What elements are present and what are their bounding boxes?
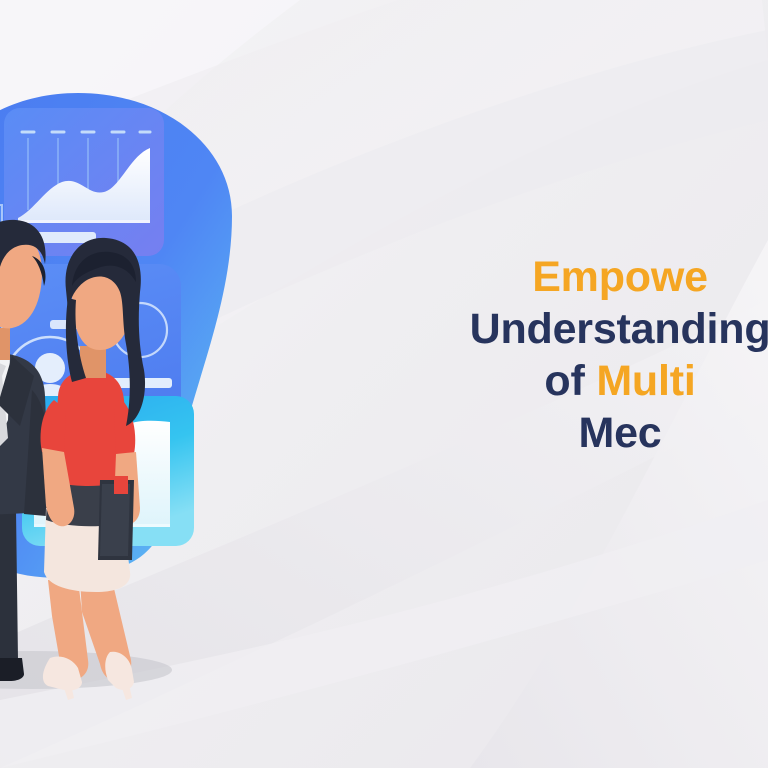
headline-segment: of [544, 357, 596, 405]
headline-line-3: of Multi [340, 360, 768, 403]
headline-segment: Understanding [470, 305, 768, 353]
headline-line-2: Understanding [340, 308, 768, 351]
headline: Empowe Understanding of Multi Mec [340, 256, 768, 455]
headline-segment: Multi [596, 357, 695, 405]
headline-line-4: Mec [340, 412, 768, 455]
banner-stage: Empowe Understanding of Multi Mec [0, 0, 768, 768]
headline-segment: Mec [578, 409, 661, 457]
business-analytics-illustration [0, 60, 282, 768]
headline-line-1: Empowe [340, 256, 768, 299]
headline-segment: Empowe [532, 253, 708, 301]
